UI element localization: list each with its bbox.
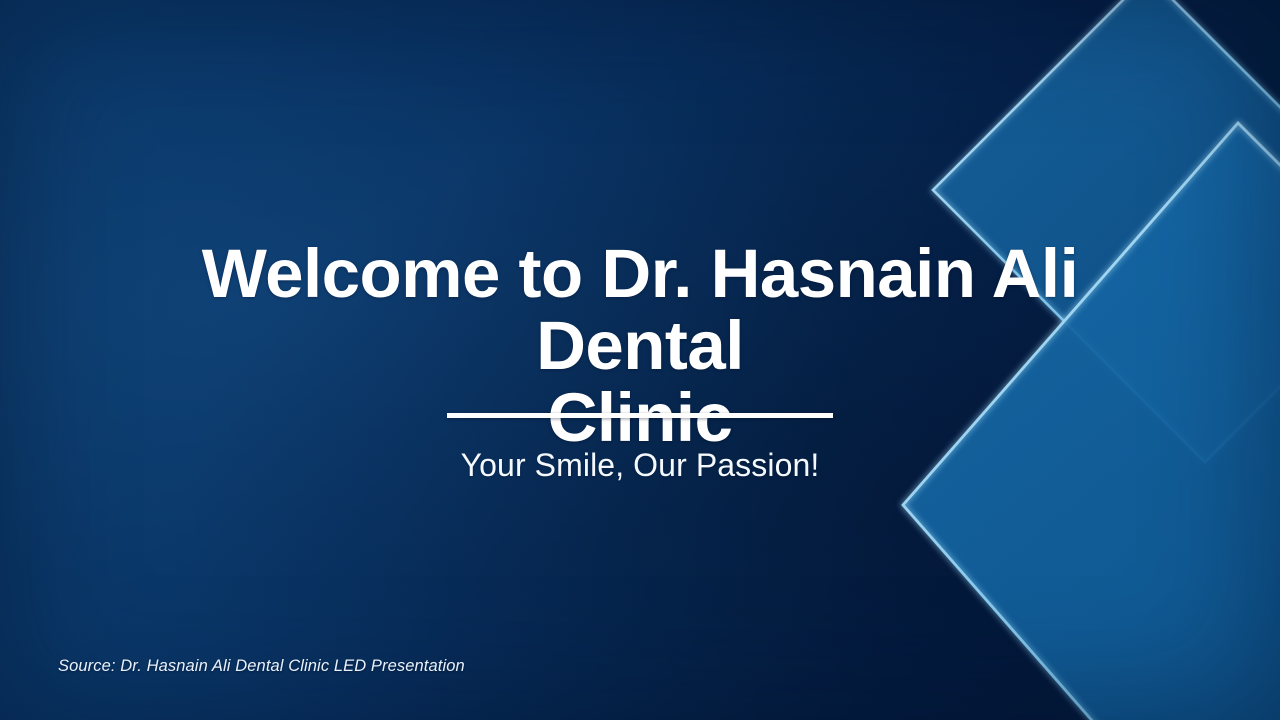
slide-title: Welcome to Dr. Hasnain Ali Dental Clinic bbox=[140, 238, 1140, 453]
title-divider-rule bbox=[447, 413, 833, 418]
presentation-slide: Welcome to Dr. Hasnain Ali Dental Clinic… bbox=[0, 0, 1280, 720]
slide-subtitle: Your Smile, Our Passion! bbox=[140, 447, 1140, 484]
slide-content: Welcome to Dr. Hasnain Ali Dental Clinic… bbox=[0, 0, 1280, 720]
source-caption: Source: Dr. Hasnain Ali Dental Clinic LE… bbox=[58, 657, 465, 676]
